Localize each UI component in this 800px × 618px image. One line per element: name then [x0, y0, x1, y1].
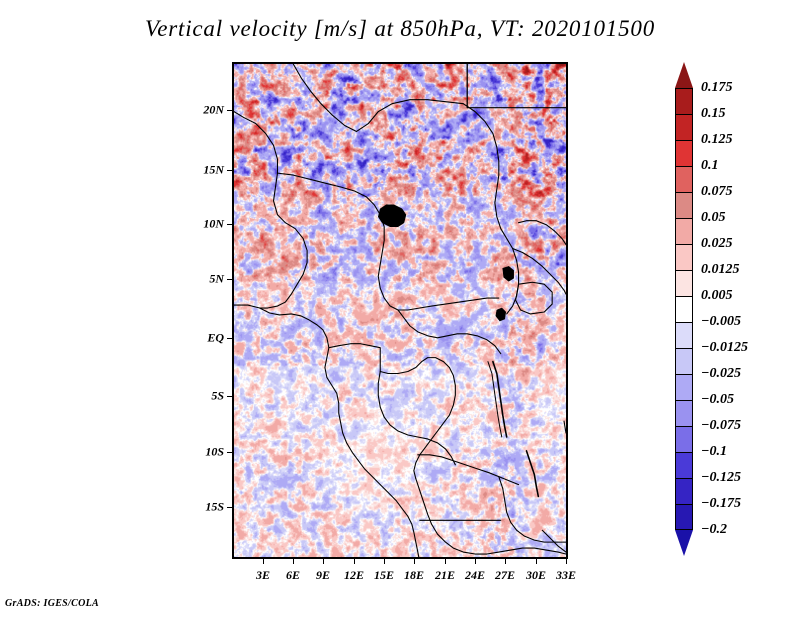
colorbar-segment: [675, 322, 693, 348]
colorbar-segment: [675, 192, 693, 218]
colorbar-tick-label: 0.125: [701, 132, 733, 148]
colorbar-tick-label: −0.05: [701, 392, 734, 408]
x-axis-tick-label-15E: 15E: [374, 568, 394, 583]
colorbar-segment: [675, 270, 693, 296]
y-tick-mark: [227, 338, 232, 339]
colorbar-tick-label: 0.1: [701, 158, 719, 174]
colorbar-bottom-arrow: [675, 530, 693, 556]
colorbar-tick-label: −0.005: [701, 314, 741, 330]
x-tick-mark: [505, 559, 506, 564]
colorbar-segment: [675, 114, 693, 140]
y-tick-mark: [227, 452, 232, 453]
colorbar-segment: [675, 244, 693, 270]
colorbar-segment: [675, 426, 693, 452]
x-tick-mark: [475, 559, 476, 564]
colorbar-segment: [675, 140, 693, 166]
x-axis-tick-label-6E: 6E: [286, 568, 300, 583]
colorbar-tick-label: 0.075: [701, 184, 733, 200]
colorbar: 0.1750.150.1250.10.0750.050.0250.01250.0…: [675, 62, 795, 552]
y-axis-tick-label-15N: 15N: [180, 163, 224, 178]
y-axis-tick-label-EQ: EQ: [180, 331, 224, 346]
colorbar-segment: [675, 374, 693, 400]
x-tick-mark: [566, 559, 567, 564]
colorbar-top-arrow: [675, 62, 693, 88]
x-axis-tick-label-9E: 9E: [316, 568, 330, 583]
colorbar-tick-label: 0.15: [701, 106, 726, 122]
x-axis-tick-label-12E: 12E: [344, 568, 364, 583]
x-tick-mark: [414, 559, 415, 564]
colorbar-tick-label: 0.175: [701, 80, 733, 96]
x-axis-tick-label-24E: 24E: [465, 568, 485, 583]
colorbar-segments: [675, 88, 693, 530]
x-tick-mark: [323, 559, 324, 564]
x-tick-mark: [445, 559, 446, 564]
y-axis-tick-label-5S: 5S: [180, 389, 224, 404]
colorbar-tick-label: 0.0125: [701, 262, 740, 278]
x-axis-tick-label-27E: 27E: [495, 568, 515, 583]
x-tick-mark: [263, 559, 264, 564]
colorbar-tick-label: −0.0125: [701, 340, 748, 356]
y-axis-tick-label-15S: 15S: [180, 500, 224, 515]
colorbar-segment: [675, 504, 693, 530]
colorbar-tick-label: −0.125: [701, 470, 741, 486]
colorbar-segment: [675, 88, 693, 114]
y-axis-tick-label-10S: 10S: [180, 445, 224, 460]
y-tick-mark: [227, 170, 232, 171]
colorbar-tick-label: −0.175: [701, 496, 741, 512]
colorbar-segment: [675, 478, 693, 504]
x-tick-mark: [354, 559, 355, 564]
colorbar-tick-label: 0.05: [701, 210, 726, 226]
colorbar-tick-label: 0.005: [701, 288, 733, 304]
colorbar-tick-label: −0.025: [701, 366, 741, 382]
colorbar-segment: [675, 348, 693, 374]
y-axis-tick-label-10N: 10N: [180, 217, 224, 232]
y-tick-mark: [227, 279, 232, 280]
colorbar-tick-label: 0.025: [701, 236, 733, 252]
colorbar-tick-label: −0.2: [701, 522, 727, 538]
x-axis-tick-label-30E: 30E: [526, 568, 546, 583]
x-axis-tick-label-3E: 3E: [256, 568, 270, 583]
page-title: Vertical velocity [m/s] at 850hPa, VT: 2…: [0, 16, 800, 42]
map-plot-area: [232, 62, 568, 559]
x-tick-mark: [536, 559, 537, 564]
colorbar-tick-label: −0.1: [701, 444, 727, 460]
colorbar-segment: [675, 452, 693, 478]
colorbar-segment: [675, 218, 693, 244]
colorbar-segment: [675, 166, 693, 192]
x-axis-tick-label-21E: 21E: [435, 568, 455, 583]
y-tick-mark: [227, 507, 232, 508]
y-tick-mark: [227, 224, 232, 225]
y-axis-tick-label-5N: 5N: [180, 272, 224, 287]
y-tick-mark: [227, 396, 232, 397]
grads-credit: GrADS: IGES/COLA: [5, 598, 99, 609]
y-tick-mark: [227, 110, 232, 111]
x-axis-tick-label-18E: 18E: [404, 568, 424, 583]
colorbar-segment: [675, 400, 693, 426]
colorbar-segment: [675, 296, 693, 322]
x-tick-mark: [293, 559, 294, 564]
x-tick-mark: [384, 559, 385, 564]
colorbar-tick-label: −0.075: [701, 418, 741, 434]
y-axis-tick-label-20N: 20N: [180, 103, 224, 118]
x-axis-tick-label-33E: 33E: [556, 568, 576, 583]
coastline-and-border-overlay: [234, 64, 566, 557]
